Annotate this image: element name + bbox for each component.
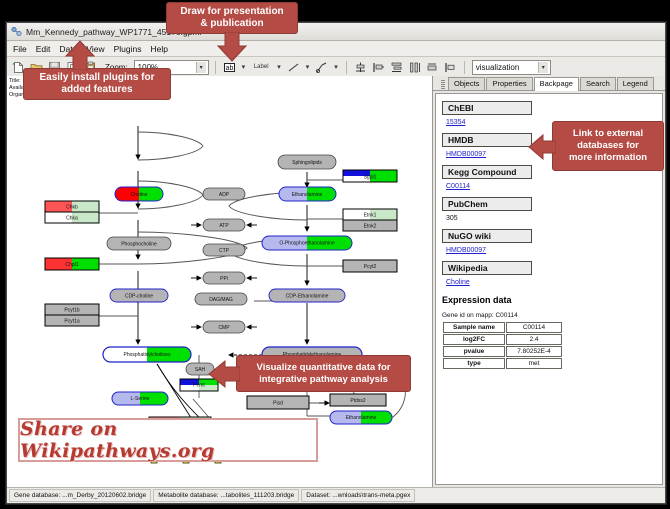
bring-to-front-icon[interactable]: [443, 60, 458, 75]
interaction-icon[interactable]: [314, 60, 329, 75]
share-text: Share on Wikipathways.org: [20, 418, 316, 462]
distribute-horizontal-icon[interactable]: [407, 60, 422, 75]
expr-value-type: met: [506, 358, 562, 369]
same-width-icon[interactable]: [425, 60, 440, 75]
gene-sgpl1[interactable]: Sgpl1: [343, 170, 397, 182]
align-center-icon[interactable]: [353, 60, 368, 75]
gene-pcyt1a[interactable]: Pcyt1a: [45, 315, 99, 326]
node-ethanolamine-top[interactable]: Ethanolamine: [279, 187, 336, 201]
callout-share: Share on Wikipathways.org: [18, 418, 318, 462]
gene-etnk1[interactable]: Etnk1: [343, 209, 397, 220]
expr-value-log2fc: 2.4: [506, 334, 562, 345]
table-row: Sample name C00114: [443, 322, 562, 333]
visualization-chevron-down-icon[interactable]: ▾: [538, 62, 548, 73]
menu-item-plugins[interactable]: Plugins: [114, 44, 142, 54]
expr-key-sample-name: Sample name: [443, 322, 505, 333]
node-cmp[interactable]: CMP: [203, 321, 245, 333]
node-ppi[interactable]: PPi: [203, 272, 245, 284]
expression-table: Sample name C00114 log2FC 2.4 pvalue 7.8…: [442, 321, 563, 370]
node-phosphatidylcholines[interactable]: Phosphatidylcholines: [103, 347, 191, 362]
distribute-vertical-icon[interactable]: [389, 60, 404, 75]
status-metabolite-database: Metabolite database: ...tabolites_111203…: [153, 489, 299, 502]
menu-item-file[interactable]: File: [13, 44, 27, 54]
node-ethanolamine-right[interactable]: Ethanolamine: [330, 411, 392, 424]
svg-text:ADP: ADP: [219, 192, 230, 198]
svg-text:Pemt: Pemt: [193, 382, 205, 388]
db-link-nugo-wiki[interactable]: HMDB00097: [446, 247, 656, 254]
tab-search[interactable]: Search: [580, 77, 616, 90]
node-dag-mag[interactable]: DAG/MAG: [195, 293, 247, 305]
callout-draw: Draw for presentation & publication: [166, 2, 298, 34]
status-gene-database: Gene database: ...m_Derby_20120602.bridg…: [9, 489, 151, 502]
svg-text:Phosphatidylcholines: Phosphatidylcholines: [124, 352, 171, 358]
node-phosphocholine[interactable]: Phosphocholine: [107, 237, 171, 250]
db-header-nugo-wiki: NuGO wiki: [442, 229, 532, 243]
visualization-value: visualization: [476, 63, 520, 72]
node-sphingolipids[interactable]: Sphingolipids: [278, 155, 336, 169]
node-cdp-ethanolamine[interactable]: CDP-Ethanolamine: [269, 289, 345, 302]
label-icon[interactable]: Label: [250, 60, 272, 75]
svg-text:CDP-Ethanolamine: CDP-Ethanolamine: [286, 293, 329, 299]
menubar[interactable]: File Edit Data View Plugins Help: [7, 41, 665, 57]
svg-text:Ptdss2: Ptdss2: [350, 398, 366, 404]
db-header-wikipedia: Wikipedia: [442, 261, 532, 275]
callout-link: Link to external databases for more info…: [552, 121, 664, 171]
panel-drag-handle[interactable]: [441, 80, 445, 90]
db-header-pubchem: PubChem: [442, 197, 532, 211]
status-bar: Gene database: ...m_Derby_20120602.bridg…: [7, 487, 665, 503]
svg-text:Ethanolamine: Ethanolamine: [346, 415, 377, 421]
side-panel-tabs[interactable]: Objects Properties Backpage Search Legen…: [433, 76, 665, 91]
interaction-dropdown-arrow[interactable]: ▾: [332, 63, 340, 71]
status-dataset: Dataset: ...wnloads\trans-meta.pgex: [301, 489, 415, 502]
visualization-combo[interactable]: visualization ▾: [472, 60, 551, 75]
table-row: log2FC 2.4: [443, 334, 562, 345]
svg-text:SAH: SAH: [195, 367, 206, 373]
svg-text:Etnk1: Etnk1: [364, 212, 377, 218]
svg-text:ATP: ATP: [219, 223, 229, 229]
tab-backpage[interactable]: Backpage: [534, 77, 579, 91]
gene-id-line: Gene id on mapp: C00114: [442, 312, 656, 319]
svg-text:CDP-choline: CDP-choline: [125, 293, 153, 299]
db-header-kegg-compound: Kegg Compound: [442, 165, 532, 179]
node-adp[interactable]: ADP: [203, 188, 245, 200]
node-cdp-choline[interactable]: CDP-choline: [110, 289, 168, 302]
callout-link-arrow: [528, 133, 556, 161]
menu-item-edit[interactable]: Edit: [36, 44, 51, 54]
chevron-down-icon[interactable]: ▾: [196, 62, 206, 73]
callout-visualize: Visualize quantitative data for integrat…: [236, 355, 411, 392]
expression-data-heading: Expression data: [442, 295, 656, 305]
menu-item-help[interactable]: Help: [151, 44, 168, 54]
screenshot-root: Mm_Kennedy_pathway_WP1771_45176.gpml Fil…: [0, 0, 670, 509]
callout-visualize-arrow: [208, 360, 240, 388]
node-l-serine-left[interactable]: L-Serine: [112, 392, 168, 405]
tab-legend[interactable]: Legend: [617, 77, 654, 90]
db-header-chebi: ChEBI: [442, 101, 532, 115]
svg-text:Chpt1: Chpt1: [65, 262, 79, 268]
db-value-pubchem: 305: [446, 215, 656, 222]
svg-text:O-Phosphoethanolamine: O-Phosphoethanolamine: [279, 240, 335, 246]
svg-text:Choline: Choline: [131, 192, 148, 198]
node-choline-top[interactable]: Choline: [115, 187, 163, 201]
window-titlebar: Mm_Kennedy_pathway_WP1771_45176.gpml: [7, 23, 665, 41]
toolbar-separator: [215, 61, 216, 74]
node-o-phosphoethanolamine[interactable]: O-Phosphoethanolamine: [262, 236, 352, 250]
callout-plugins-arrow: [63, 40, 97, 70]
svg-text:Ethanolamine: Ethanolamine: [292, 192, 323, 198]
db-link-wikipedia[interactable]: Choline: [446, 279, 656, 286]
line-dropdown-arrow[interactable]: ▾: [304, 63, 312, 71]
datanode-dropdown-arrow[interactable]: ▾: [240, 63, 248, 71]
callout-plugins: Easily install plugins for added feature…: [23, 68, 171, 100]
svg-text:DAG/MAG: DAG/MAG: [209, 297, 233, 303]
gene-chkb[interactable]: Chkb: [45, 201, 99, 212]
gene-chpt1[interactable]: Chpt1: [45, 258, 99, 270]
db-header-hmdb: HMDB: [442, 133, 532, 147]
toolbar-separator-2: [346, 61, 347, 74]
align-left-icon[interactable]: [371, 60, 386, 75]
pathvisio-icon: [11, 26, 22, 37]
callout-draw-arrow: [215, 32, 249, 62]
node-ctp[interactable]: CTP: [203, 244, 245, 256]
svg-text:Sgpl1: Sgpl1: [364, 174, 377, 180]
table-row: type met: [443, 358, 562, 369]
expr-key-log2fc: log2FC: [443, 334, 505, 345]
expr-value-sample-name: C00114: [506, 322, 562, 333]
gene-pcyt1b[interactable]: Pcyt1b: [45, 304, 99, 315]
label-text: Label: [254, 64, 269, 70]
svg-text:CMP: CMP: [218, 325, 230, 331]
gene-pisd[interactable]: Pisd: [247, 396, 309, 409]
table-row: pvalue 7.80252E-4: [443, 346, 562, 357]
svg-text:Pcyt1a: Pcyt1a: [64, 318, 80, 324]
svg-text:Etnk2: Etnk2: [364, 223, 377, 229]
gene-chka[interactable]: Chka: [45, 212, 99, 223]
gene-pcyt2[interactable]: Pcyt2: [343, 260, 397, 272]
svg-text:Pisd: Pisd: [273, 400, 283, 406]
line-icon[interactable]: [286, 60, 301, 75]
svg-text:Sphingolipids: Sphingolipids: [292, 160, 322, 166]
gene-etnk2[interactable]: Etnk2: [343, 220, 397, 231]
svg-text:CTP: CTP: [219, 248, 230, 254]
db-link-kegg-compound[interactable]: C00114: [446, 183, 656, 190]
svg-text:Phosphocholine: Phosphocholine: [121, 241, 157, 247]
gene-ptdss2[interactable]: Ptdss2: [330, 394, 386, 406]
label-dropdown-arrow[interactable]: ▾: [275, 63, 283, 71]
svg-text:Pcyt1b: Pcyt1b: [64, 307, 80, 313]
expr-key-pvalue: pvalue: [443, 346, 505, 357]
svg-text:Pcyt2: Pcyt2: [364, 264, 377, 270]
tab-properties[interactable]: Properties: [486, 77, 532, 90]
svg-text:Chka: Chka: [66, 215, 78, 221]
svg-text:ab: ab: [225, 65, 233, 72]
tab-objects[interactable]: Objects: [448, 77, 485, 90]
svg-text:Chkb: Chkb: [66, 204, 78, 210]
expr-key-type: type: [443, 358, 505, 369]
node-atp[interactable]: ATP: [203, 219, 245, 231]
expr-value-pvalue: 7.80252E-4: [506, 346, 562, 357]
svg-text:L-Serine: L-Serine: [131, 396, 150, 402]
toolbar-separator-3: [464, 61, 465, 74]
svg-text:PPi: PPi: [220, 276, 228, 282]
